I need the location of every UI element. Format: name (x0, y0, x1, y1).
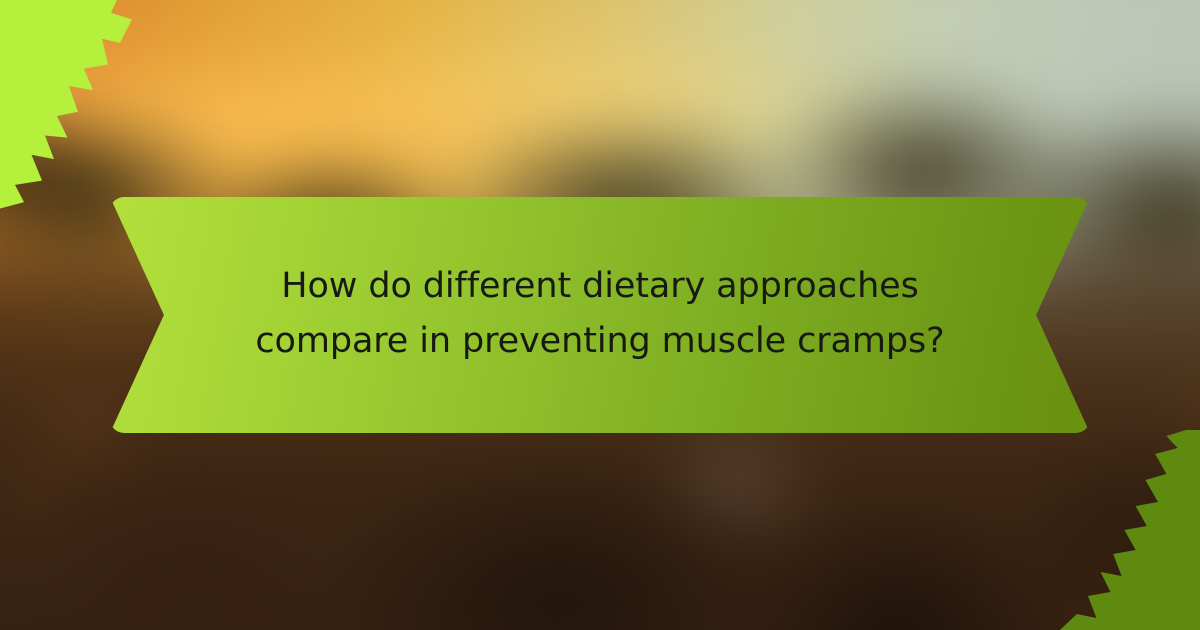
headline-line-1: How do different dietary approaches (250, 259, 950, 314)
share-card-canvas: How do different dietary approaches comp… (0, 0, 1200, 630)
headline: How do different dietary approaches comp… (250, 259, 950, 372)
ribbon-banner: How do different dietary approaches comp… (110, 197, 1090, 433)
headline-line-2: compare in preventing muscle cramps? (250, 314, 950, 369)
